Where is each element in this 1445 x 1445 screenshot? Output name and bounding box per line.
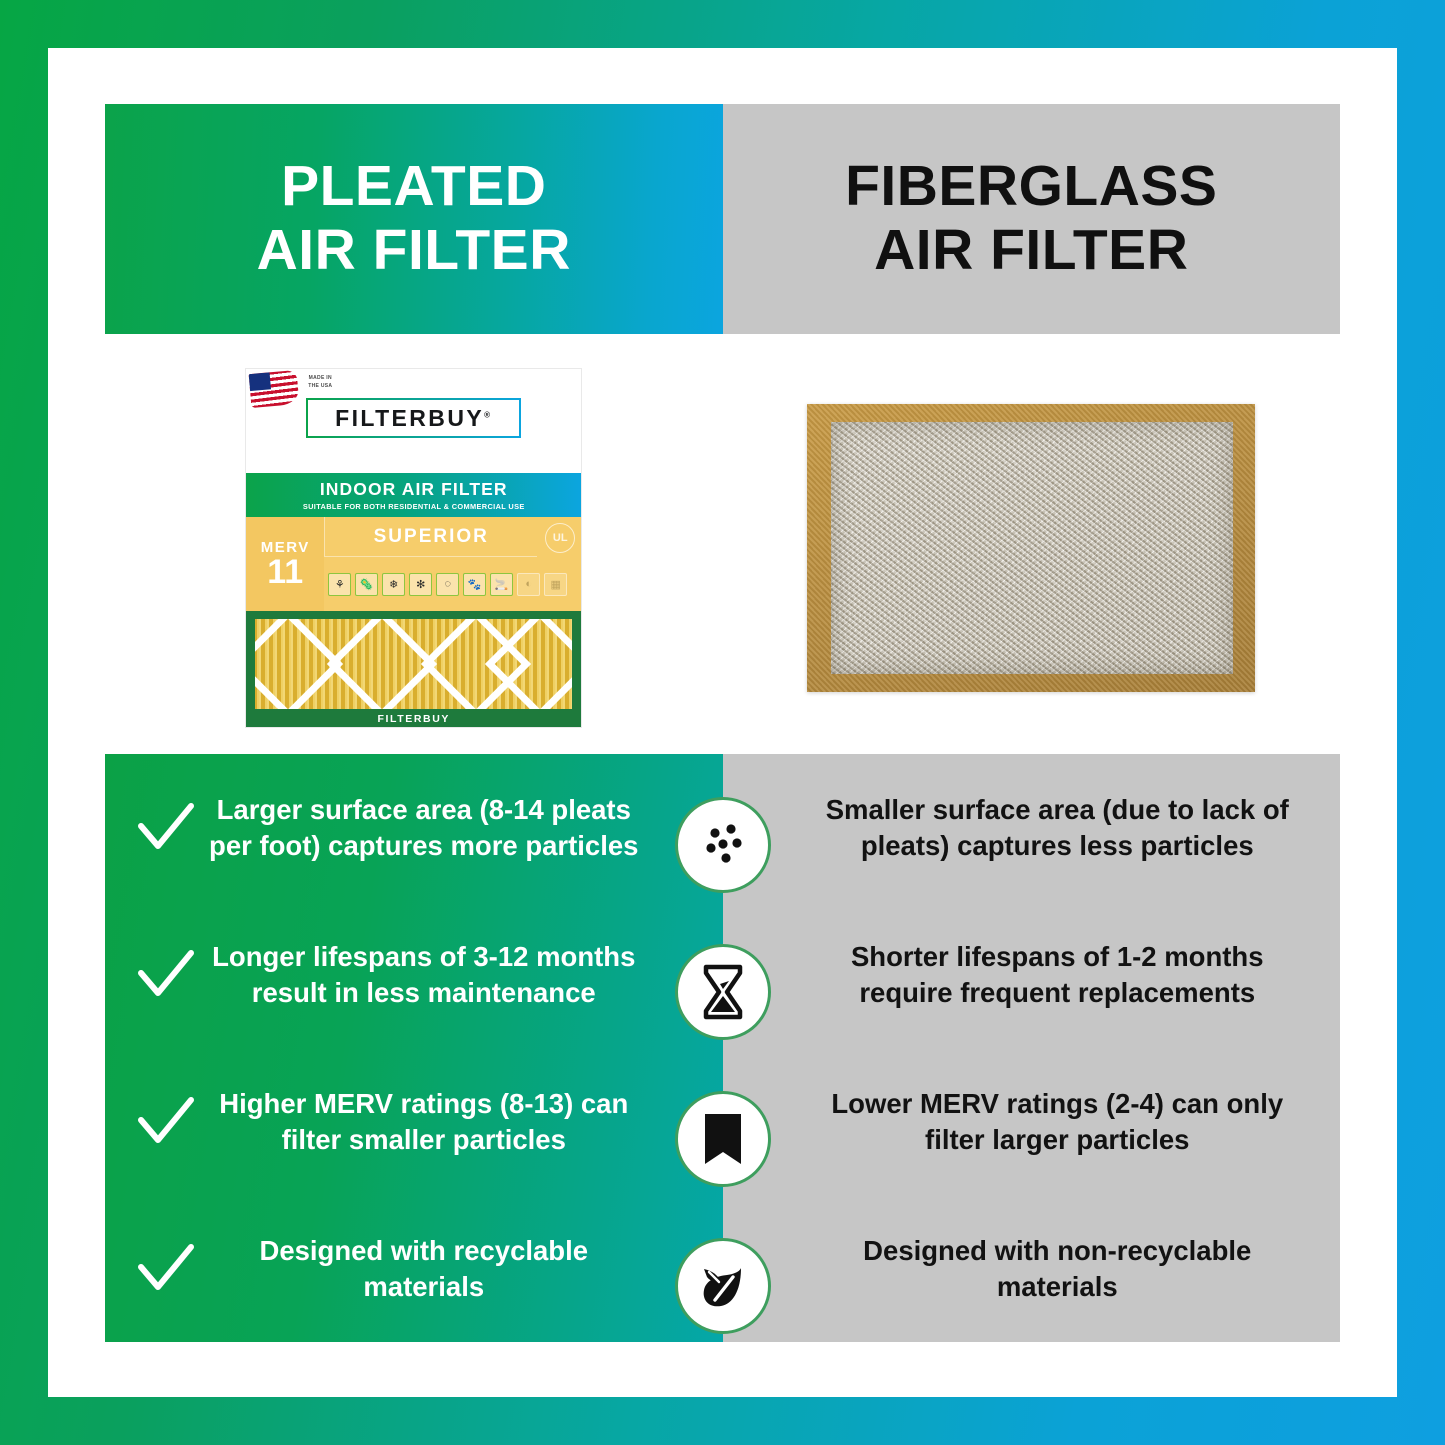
feature-icon-smoke: 🚬 bbox=[490, 573, 513, 596]
box-footer-brand: FILTERBUY bbox=[246, 713, 581, 725]
pleat-texture bbox=[255, 619, 572, 709]
comparison-row-left-0: Larger surface area (8-14 pleats per foo… bbox=[105, 754, 723, 901]
header-fiberglass-line2: AIR FILTER bbox=[874, 218, 1188, 282]
header-pleated-line2: AIR FILTER bbox=[257, 218, 571, 282]
feature-icon-dustmite: 🦠 bbox=[355, 573, 378, 596]
filterbuy-brand-text: FILTERBUY bbox=[335, 405, 484, 431]
particles-icon bbox=[675, 797, 771, 893]
comparison-row-right-0: Smaller surface area (due to lack of ple… bbox=[723, 754, 1341, 901]
header-fiberglass-line1: FIBERGLASS bbox=[845, 154, 1217, 218]
feature-icon-pollen: ❄ bbox=[382, 573, 405, 596]
bookmark-icon bbox=[675, 1091, 771, 1187]
fiberglass-media-texture bbox=[831, 422, 1233, 674]
header-pleated: PLEATED AIR FILTER bbox=[105, 104, 723, 334]
comparison-row-right-2: Lower MERV ratings (2-4) can only filter… bbox=[723, 1048, 1341, 1195]
drawback-text-0: Smaller surface area (due to lack of ple… bbox=[797, 792, 1319, 862]
diamond-support-grid bbox=[255, 619, 572, 709]
header-fiberglass: FIBERGLASS AIR FILTER bbox=[723, 104, 1341, 334]
checkmark-icon bbox=[133, 796, 197, 860]
benefit-text-2: Higher MERV ratings (8-13) can filter sm… bbox=[197, 1086, 651, 1156]
pleated-product-cell: MADE IN THE USA FILTERBUY® INDOOR AIR FI… bbox=[105, 348, 723, 748]
header-fiberglass-title: FIBERGLASS AIR FILTER bbox=[845, 155, 1217, 283]
pleated-benefits-column: Larger surface area (8-14 pleats per foo… bbox=[105, 754, 723, 1342]
feature-icon-bacteria: ◌ bbox=[436, 573, 459, 596]
header-row: PLEATED AIR FILTER FIBERGLASS AIR FILTER bbox=[105, 104, 1340, 334]
made-in-usa-label: MADE IN THE USA bbox=[308, 375, 332, 390]
fiberglass-product-cell bbox=[723, 348, 1341, 748]
drawback-text-3: Designed with non-recyclable materials bbox=[797, 1233, 1319, 1303]
product-image-row: MADE IN THE USA FILTERBUY® INDOOR AIR FI… bbox=[105, 348, 1340, 748]
merv-rating-block: MERV 11 bbox=[246, 517, 324, 611]
band-sub-text: SUITABLE FOR BOTH RESIDENTIAL & COMMERCI… bbox=[303, 502, 525, 511]
feature-icon-pet-dander: 🐾 bbox=[463, 573, 486, 596]
fiberglass-filter-image bbox=[807, 404, 1255, 692]
merv-gold-panel: MERV 11 SUPERIOR UL ⚘ 🦠 ❄ ✻ ◌ 🐾 🚬 bbox=[246, 517, 581, 611]
feature-icon-disabled-1: ◐ bbox=[517, 573, 540, 596]
indoor-air-filter-band: INDOOR AIR FILTER SUITABLE FOR BOTH RESI… bbox=[246, 473, 581, 517]
feature-icon-strip: ⚘ 🦠 ❄ ✻ ◌ 🐾 🚬 ◐ ▦ bbox=[328, 561, 575, 607]
comparison-row-left-1: Longer lifespans of 3-12 months result i… bbox=[105, 901, 723, 1048]
infographic-canvas: PLEATED AIR FILTER FIBERGLASS AIR FILTER… bbox=[48, 48, 1397, 1397]
benefit-text-3: Designed with recyclable materials bbox=[197, 1233, 651, 1303]
drawback-text-1: Shorter lifespans of 1-2 months require … bbox=[797, 939, 1319, 1009]
filterbuy-product-box: MADE IN THE USA FILTERBUY® INDOOR AIR FI… bbox=[246, 369, 581, 727]
checkmark-icon bbox=[133, 1237, 197, 1301]
header-pleated-line1: PLEATED bbox=[281, 154, 546, 218]
feature-icon-dust: ⚘ bbox=[328, 573, 351, 596]
ul-seal-icon: UL bbox=[545, 523, 575, 553]
comparison-row-left-2: Higher MERV ratings (8-13) can filter sm… bbox=[105, 1048, 723, 1195]
drawback-text-2: Lower MERV ratings (2-4) can only filter… bbox=[797, 1086, 1319, 1156]
pleated-filter-media: FILTERBUY bbox=[246, 611, 581, 727]
comparison-section: Larger surface area (8-14 pleats per foo… bbox=[105, 754, 1340, 1342]
trademark-symbol: ® bbox=[484, 410, 492, 419]
hourglass-icon bbox=[675, 944, 771, 1040]
benefit-text-0: Larger surface area (8-14 pleats per foo… bbox=[197, 792, 651, 862]
comparison-row-right-3: Designed with non-recyclable materials bbox=[723, 1195, 1341, 1342]
checkmark-icon bbox=[133, 1090, 197, 1154]
filterbuy-logo-frame: FILTERBUY® bbox=[306, 398, 521, 438]
comparison-row-left-3: Designed with recyclable materials bbox=[105, 1195, 723, 1342]
header-pleated-title: PLEATED AIR FILTER bbox=[257, 155, 571, 283]
feature-icon-disabled-2: ▦ bbox=[544, 573, 567, 596]
tier-label: SUPERIOR bbox=[324, 517, 537, 557]
filterbuy-logo: FILTERBUY® bbox=[335, 405, 492, 432]
comparison-row-right-1: Shorter lifespans of 1-2 months require … bbox=[723, 901, 1341, 1048]
fiberglass-drawbacks-column: Smaller surface area (due to lack of ple… bbox=[723, 754, 1341, 1342]
checkmark-icon bbox=[133, 943, 197, 1007]
made-in-line1: MADE IN bbox=[309, 375, 332, 381]
leaf-icon bbox=[675, 1238, 771, 1334]
band-main-text: INDOOR AIR FILTER bbox=[320, 479, 508, 500]
benefit-text-1: Longer lifespans of 3-12 months result i… bbox=[197, 939, 651, 1009]
merv-value: 11 bbox=[267, 556, 303, 588]
made-in-line2: THE USA bbox=[308, 383, 332, 389]
feature-icon-mold: ✻ bbox=[409, 573, 432, 596]
comparison-infographic: PLEATED AIR FILTER FIBERGLASS AIR FILTER… bbox=[0, 0, 1445, 1445]
